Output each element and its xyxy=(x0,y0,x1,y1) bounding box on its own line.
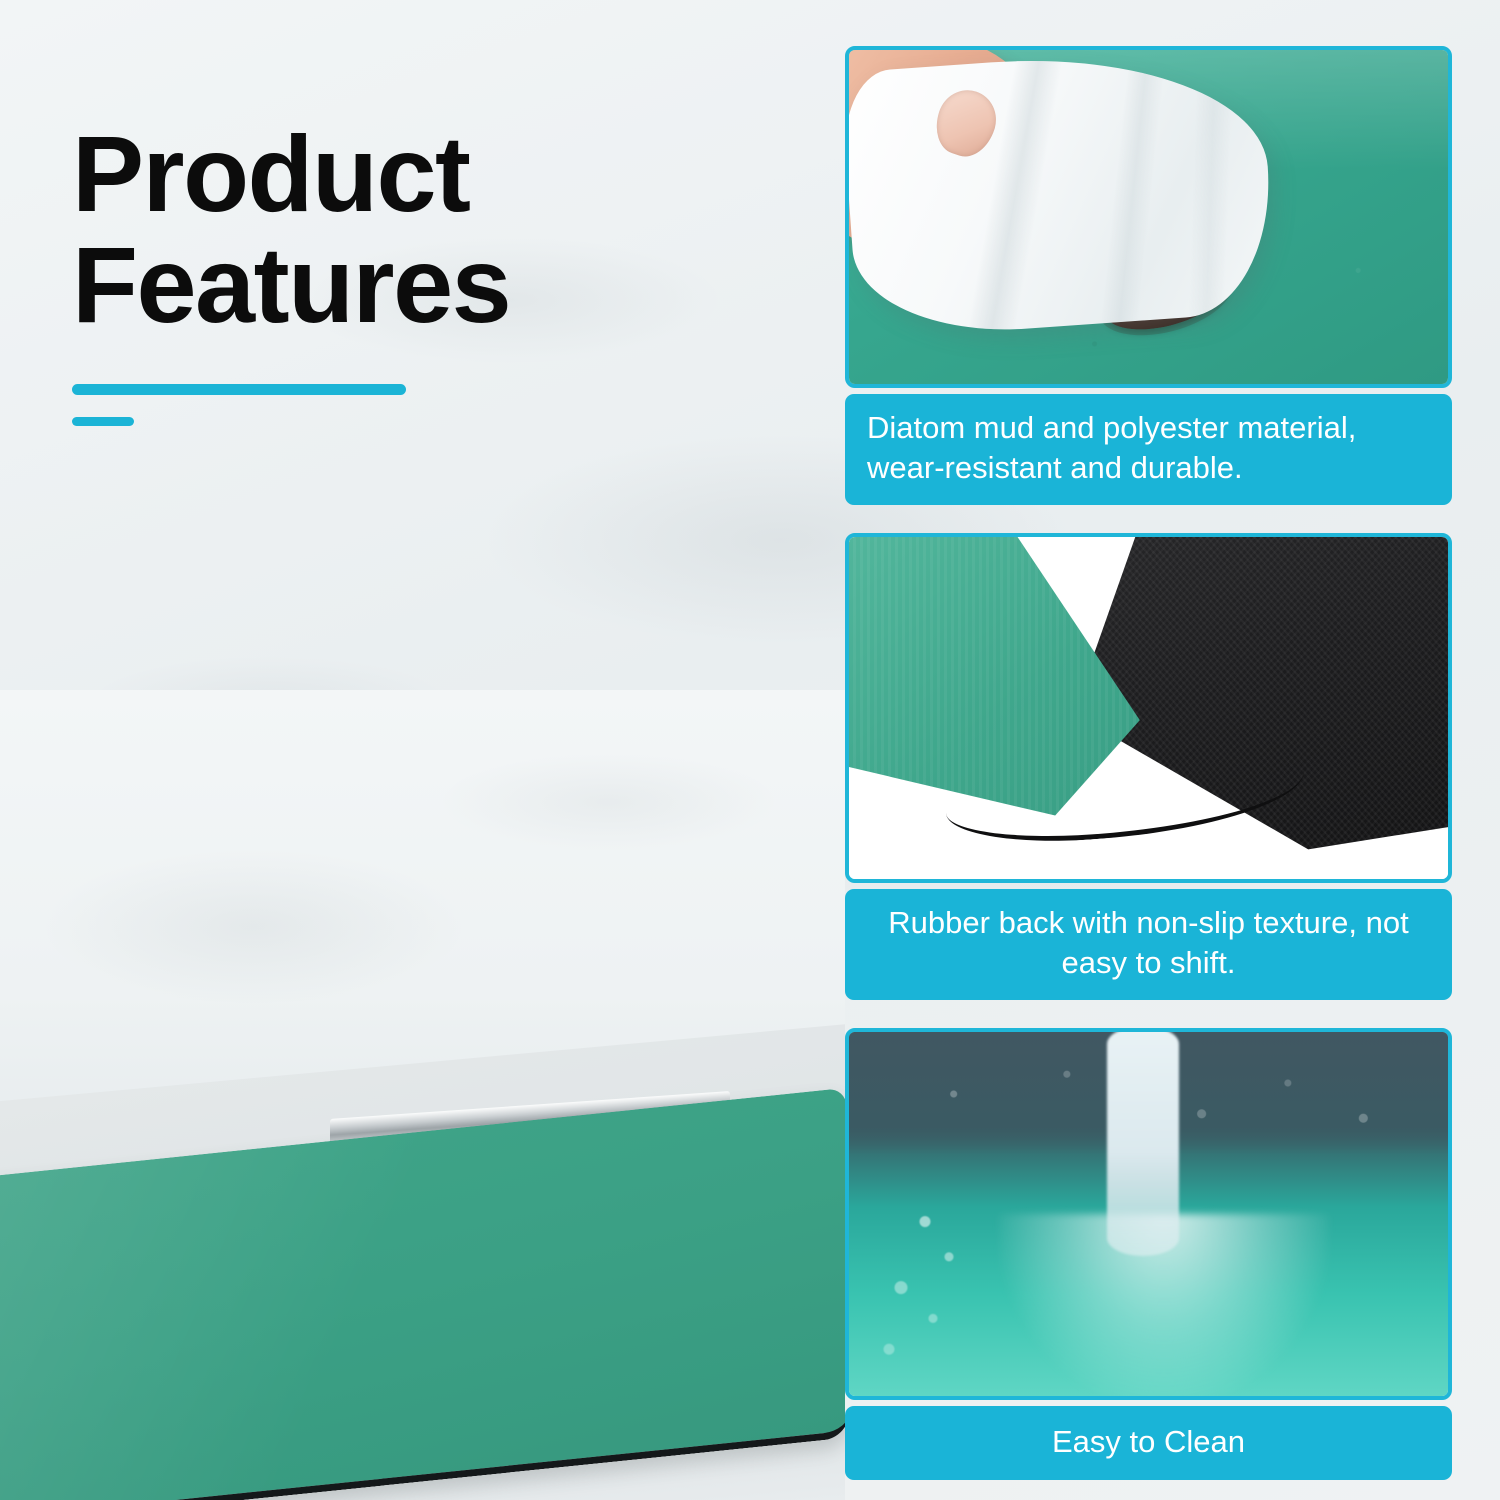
feature-card-easy-clean: Easy to Clean xyxy=(845,1028,1452,1480)
product-features-infographic: Product Features xyxy=(0,0,1500,1500)
title-line-1: Product xyxy=(72,118,772,229)
lifestyle-photo xyxy=(0,690,845,1500)
feature-caption-non-slip: Rubber back with non-slip texture, not e… xyxy=(845,889,1452,1000)
feature-photo-easy-clean xyxy=(845,1028,1452,1400)
feature-photo-durability xyxy=(845,46,1452,388)
title-underline-short xyxy=(72,417,134,426)
faucet-water-stream xyxy=(1107,1028,1179,1256)
page-title: Product Features xyxy=(72,118,772,426)
feature-card-durability: Diatom mud and polyester material, wear-… xyxy=(845,46,1452,505)
feature-caption-easy-clean: Easy to Clean xyxy=(845,1406,1452,1480)
title-line-2: Features xyxy=(72,229,772,340)
feature-caption-durability: Diatom mud and polyester material, wear-… xyxy=(845,394,1452,505)
feature-photo-non-slip xyxy=(845,533,1452,883)
title-underline-long xyxy=(72,384,406,395)
water-ripples xyxy=(857,1182,1057,1400)
feature-card-non-slip: Rubber back with non-slip texture, not e… xyxy=(845,533,1452,1000)
